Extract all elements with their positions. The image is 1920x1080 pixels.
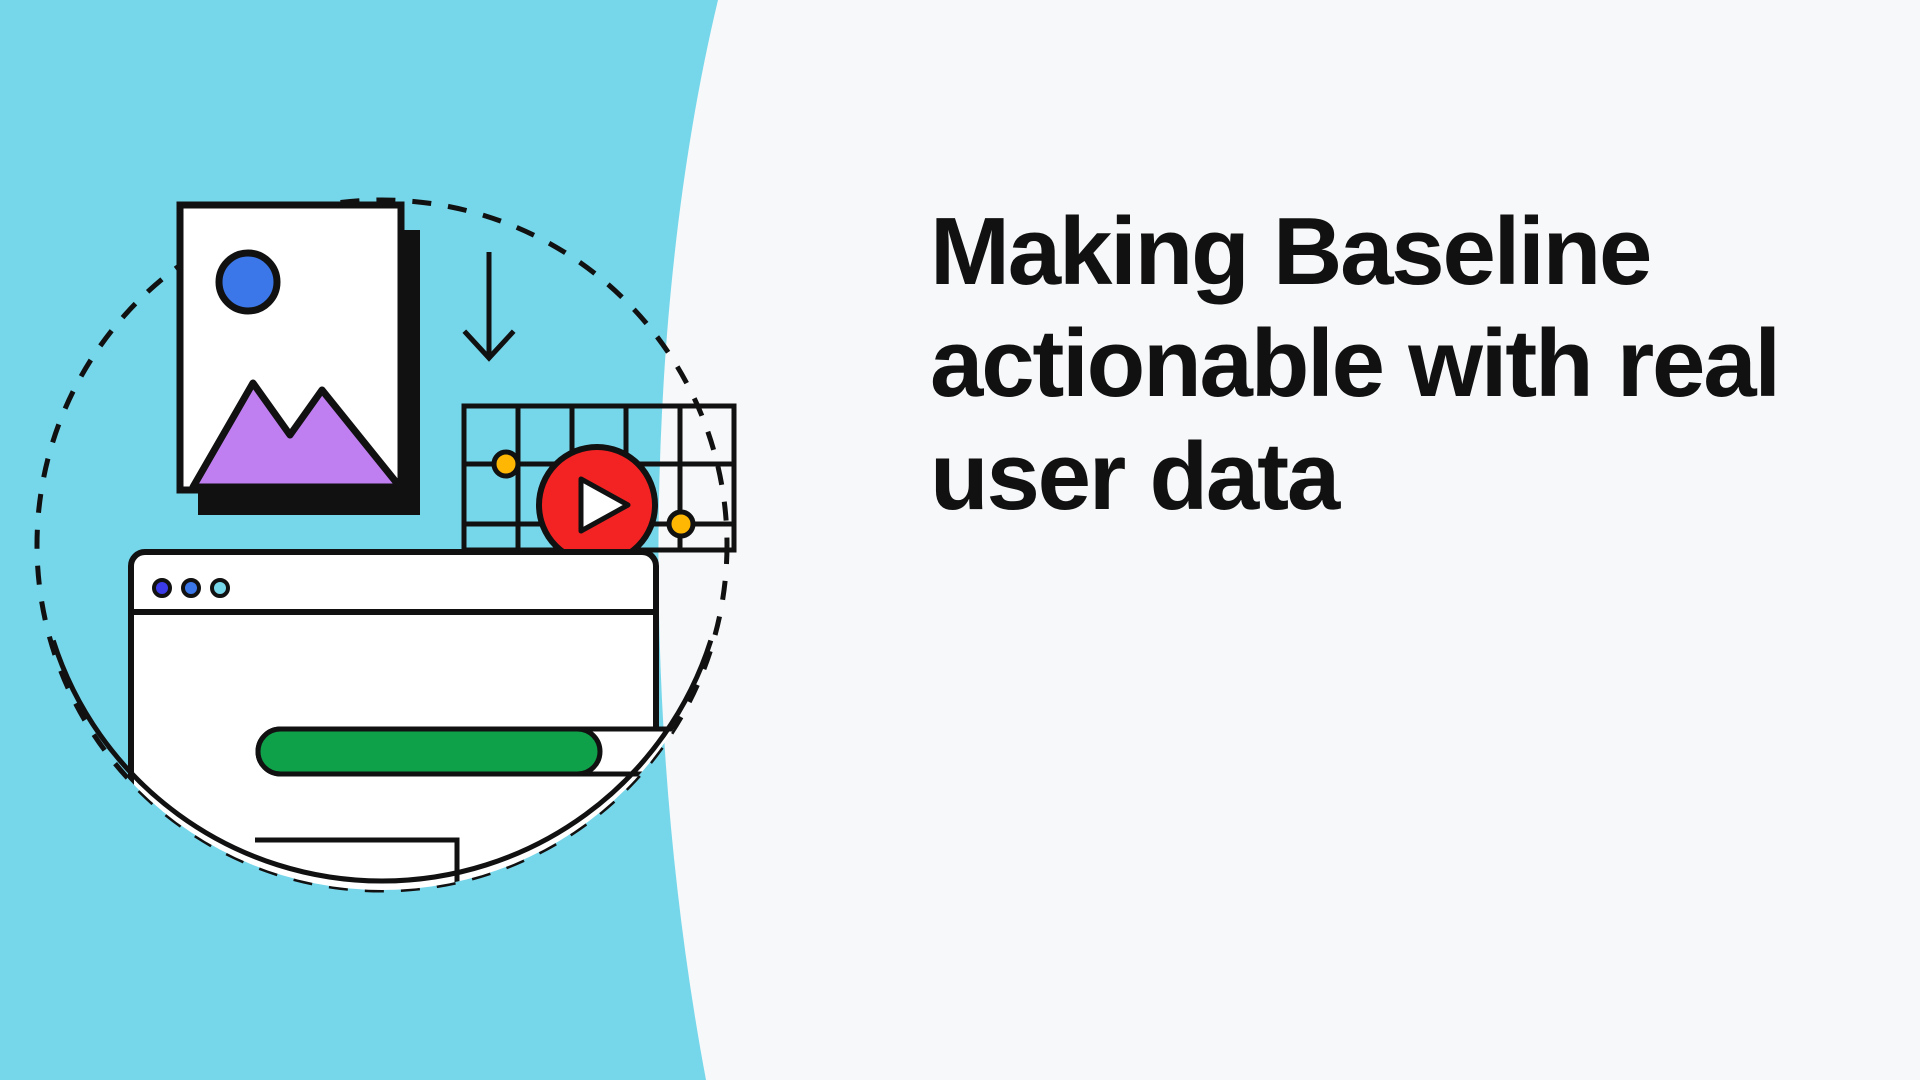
- traffic-light-1-icon[interactable]: [154, 580, 170, 596]
- hero-banner: Making Baseline actionable with real use…: [0, 0, 1920, 1080]
- illustration-stage: [0, 0, 900, 1080]
- traffic-light-3-icon[interactable]: [212, 580, 228, 596]
- illustration-svg: [0, 0, 900, 1080]
- image-placeholder-card: [180, 205, 420, 515]
- grid-node-left-icon: [494, 452, 518, 476]
- progress-bar-fill: [258, 729, 600, 774]
- traffic-light-2-icon[interactable]: [183, 580, 199, 596]
- grid-node-right-icon: [669, 512, 693, 536]
- headline-block: Making Baseline actionable with real use…: [930, 196, 1810, 533]
- sun-circle: [219, 253, 277, 311]
- page-title: Making Baseline actionable with real use…: [930, 196, 1810, 533]
- play-button[interactable]: [539, 447, 655, 563]
